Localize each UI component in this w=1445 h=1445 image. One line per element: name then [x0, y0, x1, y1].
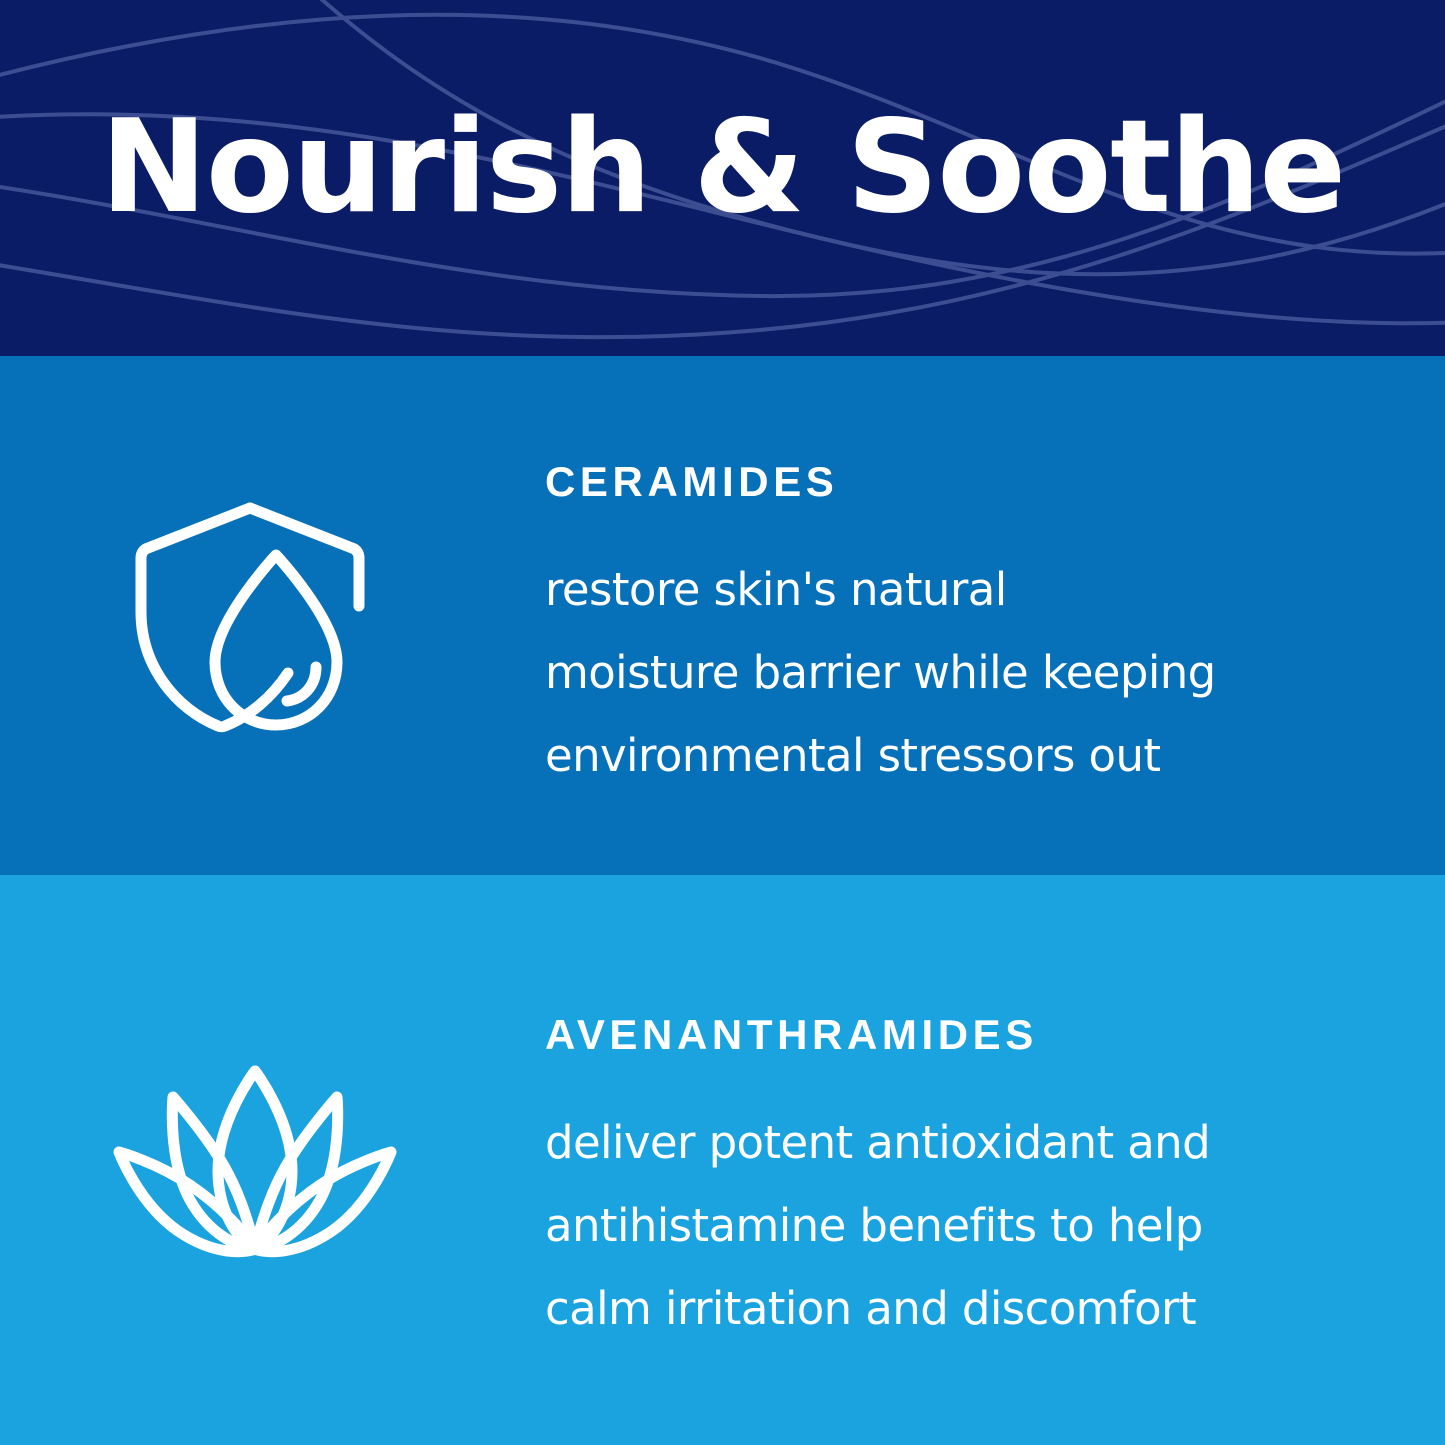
ceramides-text-block: CERAMIDES restore skin's natural moistur… [545, 460, 1335, 797]
shield-droplet-icon [120, 496, 390, 736]
ingredient-benefits-infographic: Nourish & Soothe CERAMIDES restore skin' [0, 0, 1445, 1445]
section-avenanthramides: AVENANTHRAMIDES deliver potent antioxida… [0, 875, 1445, 1445]
ingredient-name-ceramides: CERAMIDES [545, 460, 1335, 504]
ingredient-name-avenanthramides: AVENANTHRAMIDES [545, 1013, 1335, 1057]
section-ceramides: CERAMIDES restore skin's natural moistur… [0, 356, 1445, 875]
page-title: Nourish & Soothe [0, 104, 1445, 232]
ingredient-description-ceramides: restore skin's natural moisture barrier … [545, 548, 1335, 797]
lotus-flower-icon [110, 1061, 400, 1261]
description-line: antihistamine benefits to help [545, 1184, 1335, 1267]
header-banner: Nourish & Soothe [0, 0, 1445, 356]
description-line: environmental stressors out [545, 714, 1335, 797]
description-line: calm irritation and discomfort [545, 1267, 1335, 1350]
description-line: deliver potent antioxidant and [545, 1101, 1335, 1184]
avenanthramides-text-block: AVENANTHRAMIDES deliver potent antioxida… [545, 1013, 1335, 1350]
ingredient-description-avenanthramides: deliver potent antioxidant and antihista… [545, 1101, 1335, 1350]
description-line: restore skin's natural [545, 548, 1335, 631]
description-line: moisture barrier while keeping [545, 631, 1335, 714]
